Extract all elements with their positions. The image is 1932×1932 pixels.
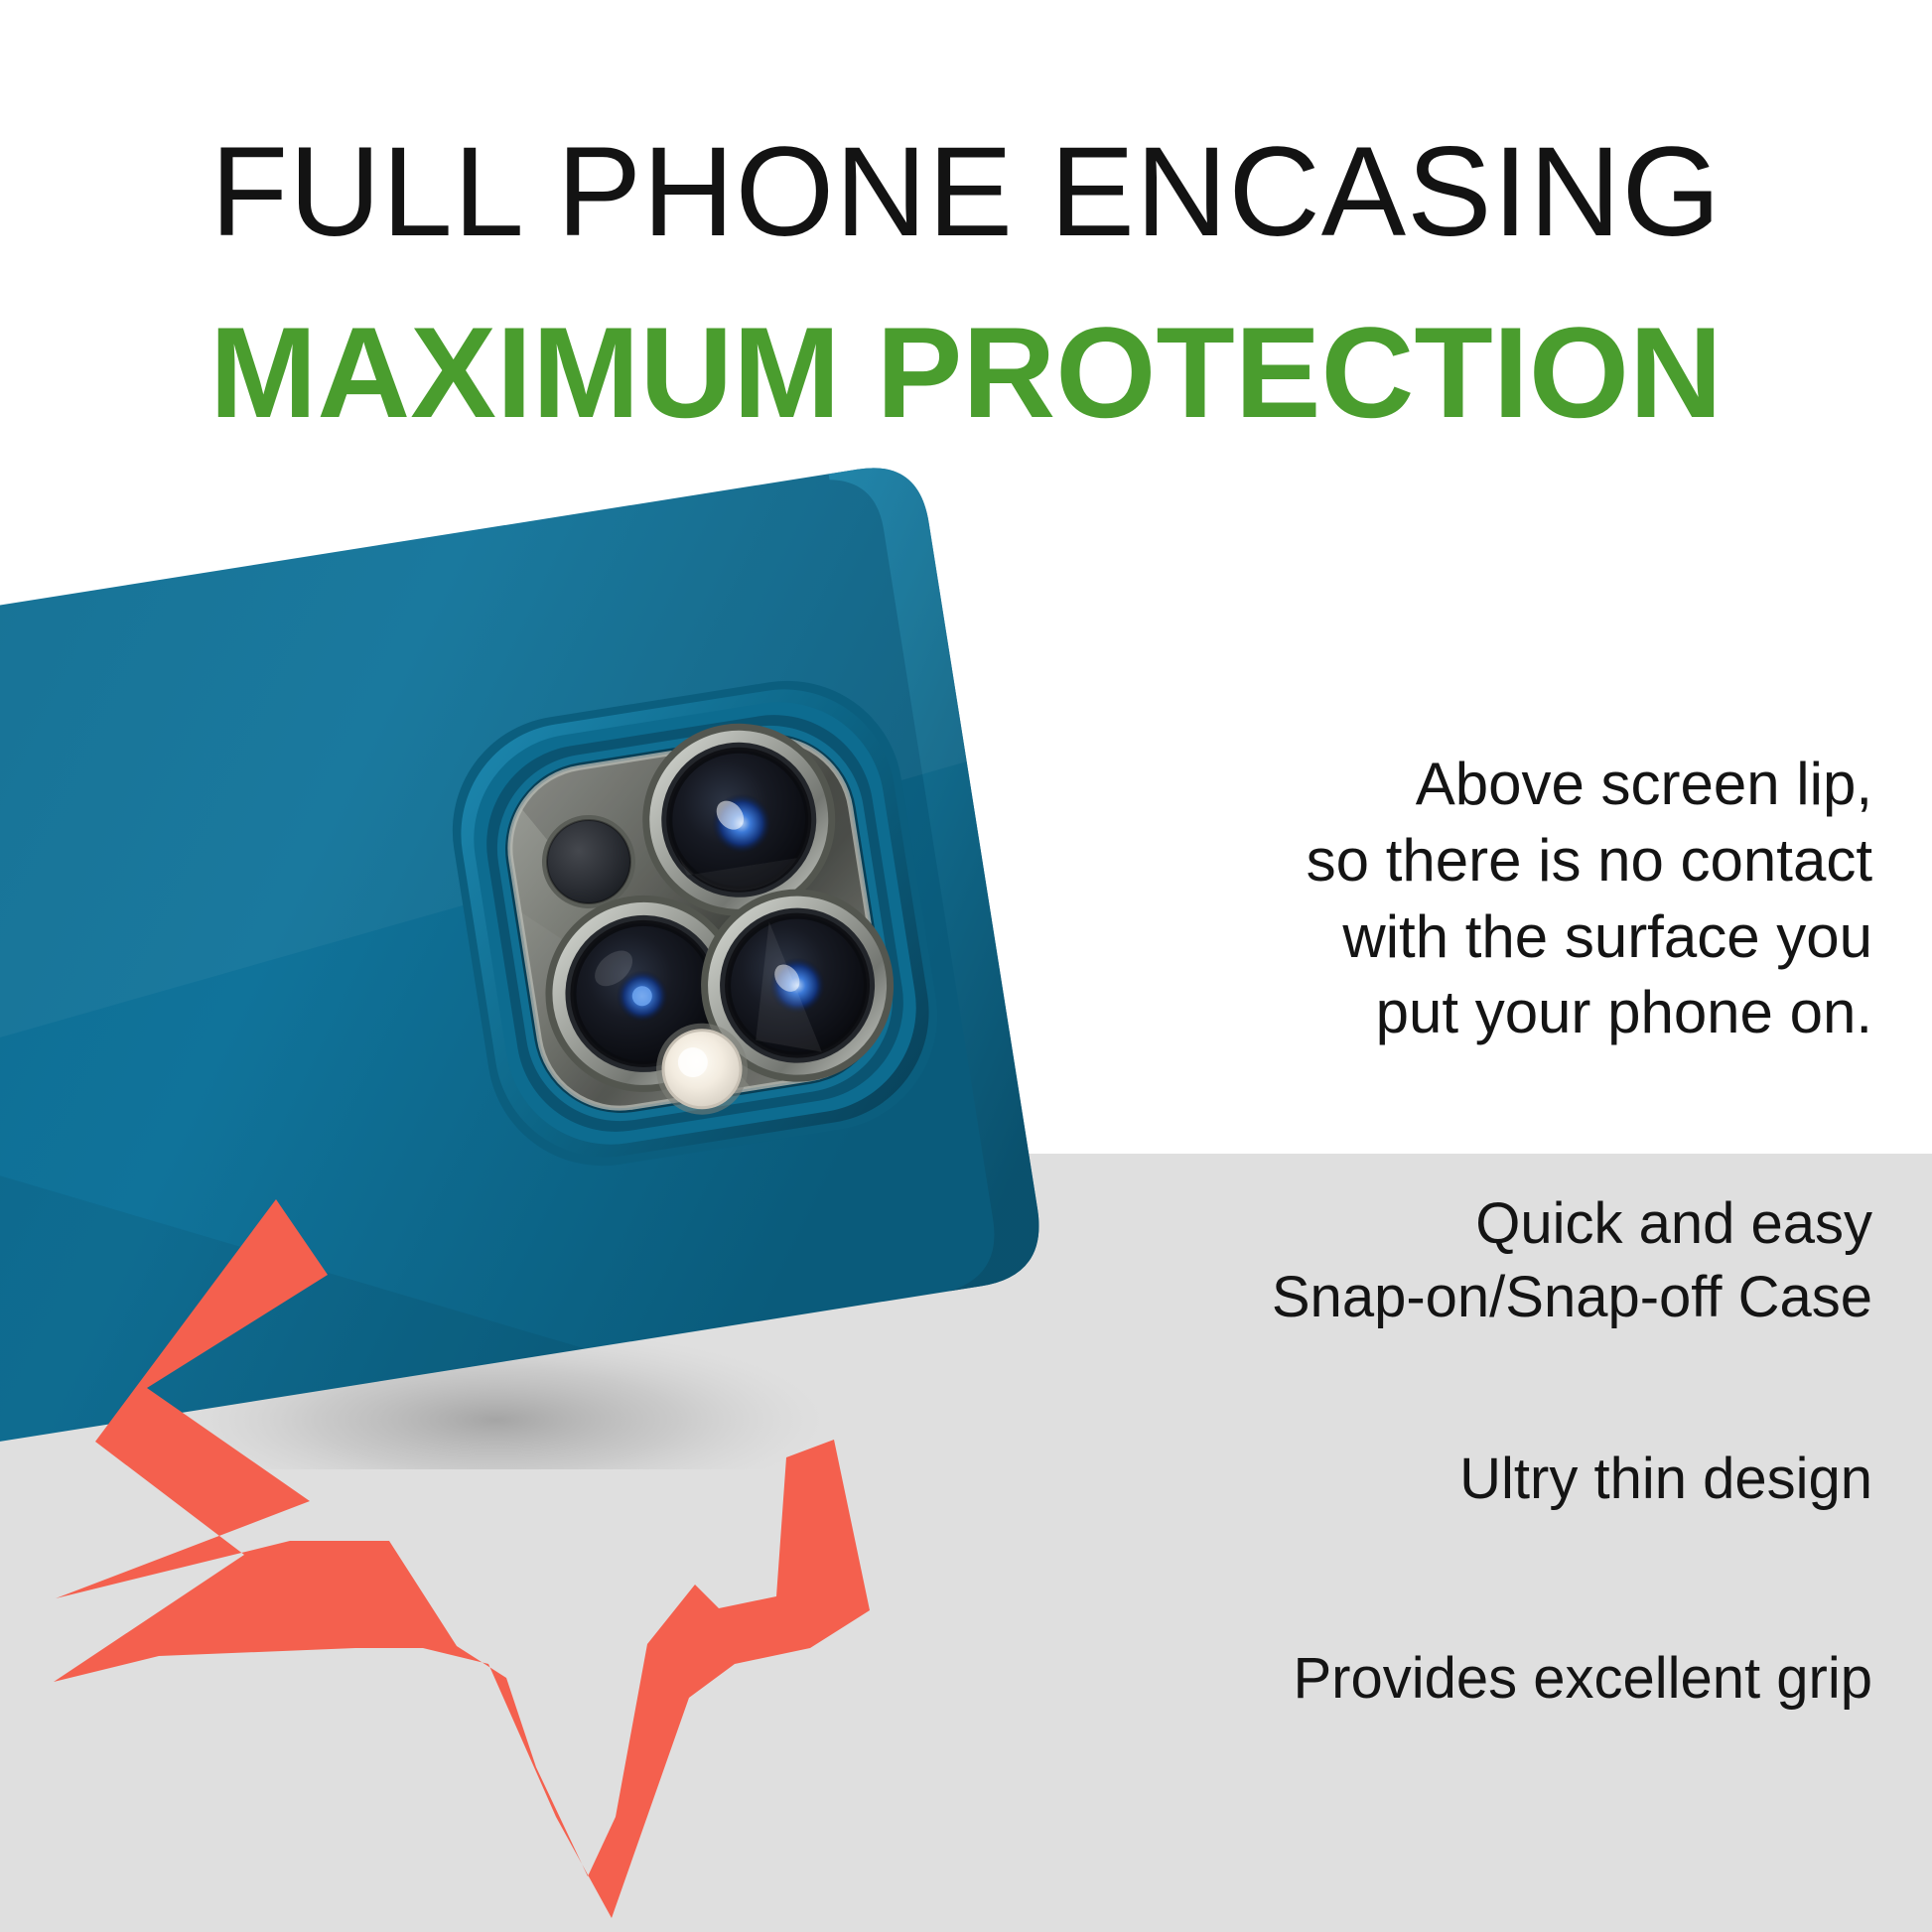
feature-text-excellent-grip: Provides excellent grip — [1058, 1642, 1872, 1716]
camera-cutout — [436, 664, 954, 1182]
feature-text-ultra-thin: Ultry thin design — [1058, 1443, 1872, 1516]
zigzag-shape — [54, 1199, 870, 1918]
title-line-2: MAXIMUM PROTECTION — [0, 308, 1932, 437]
feature-text-above-screen-lip: Above screen lip, so there is no contact… — [1058, 747, 1872, 1051]
title-line-1: FULL PHONE ENCASING — [0, 129, 1932, 256]
lightning-zigzag-graphic — [40, 1181, 933, 1932]
feature-text-snap-on-off: Quick and easy Snap-on/Snap-off Case — [1058, 1187, 1872, 1334]
heading-block: FULL PHONE ENCASING MAXIMUM PROTECTION — [0, 0, 1932, 437]
infographic-canvas: FULL PHONE ENCASING MAXIMUM PROTECTION A… — [0, 0, 1932, 1932]
